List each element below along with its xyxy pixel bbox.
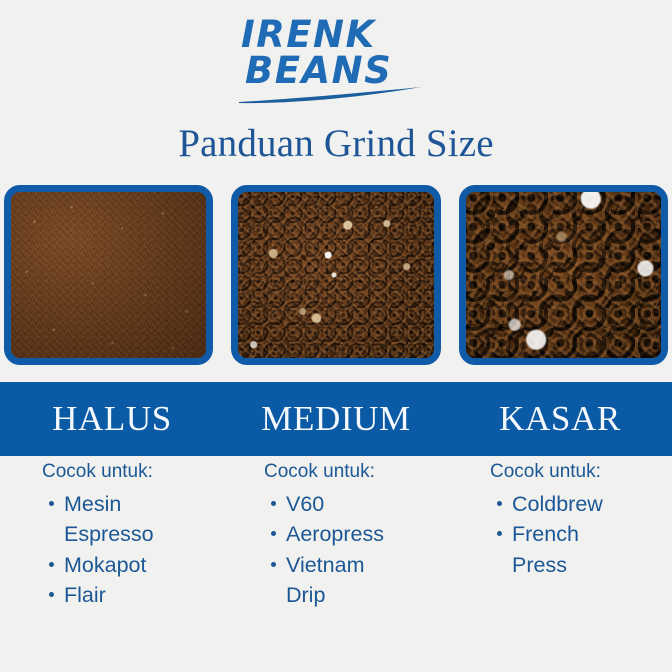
usage-heading-halus: Cocok untuk: <box>42 462 224 483</box>
list-item: Coldbrew <box>512 489 624 520</box>
grind-card-kasar <box>459 185 668 365</box>
list-item: Vietnam Drip <box>286 550 398 611</box>
usage-column-kasar: Cocok untuk: Coldbrew French Press <box>446 462 672 662</box>
coarse-ground-coffee-photo <box>466 192 661 358</box>
page-title: Panduan Grind Size <box>0 122 672 167</box>
usage-list-halus: Mesin Espresso Mokapot Flair <box>42 489 224 611</box>
usage-heading-kasar: Cocok untuk: <box>490 462 672 483</box>
grind-label-band: HALUS MEDIUM KASAR <box>0 382 672 456</box>
brand-logo: IRENK BEANS <box>0 4 672 109</box>
band-label-kasar: KASAR <box>448 382 672 456</box>
fine-ground-coffee-photo <box>11 192 206 358</box>
infographic-canvas: IRENK BEANS Panduan Grind Size HALUS MED… <box>0 0 672 672</box>
usage-column-medium: Cocok untuk: V60 Aeropress Vietnam Drip <box>224 462 446 662</box>
usage-list-kasar: Coldbrew French Press <box>490 489 672 581</box>
usage-list-medium: V60 Aeropress Vietnam Drip <box>264 489 446 611</box>
usage-heading-medium: Cocok untuk: <box>264 462 446 483</box>
grind-card-medium <box>231 185 440 365</box>
grind-card-halus <box>4 185 213 365</box>
usage-column-halus: Cocok untuk: Mesin Espresso Mokapot Flai… <box>0 462 224 662</box>
list-item: Flair <box>64 580 176 611</box>
grind-card-row <box>4 185 668 365</box>
list-item: French Press <box>512 519 624 580</box>
irenk-beans-logo-icon: IRENK BEANS <box>221 7 451 107</box>
list-item: Mesin Espresso <box>64 489 176 550</box>
logo-text-line2: BEANS <box>245 49 392 92</box>
medium-ground-coffee-photo <box>238 192 433 358</box>
band-label-medium: MEDIUM <box>224 382 448 456</box>
list-item: Mokapot <box>64 550 176 581</box>
list-item: V60 <box>286 489 398 520</box>
list-item: Aeropress <box>286 519 398 550</box>
usage-columns: Cocok untuk: Mesin Espresso Mokapot Flai… <box>0 462 672 662</box>
band-label-halus: HALUS <box>0 382 224 456</box>
